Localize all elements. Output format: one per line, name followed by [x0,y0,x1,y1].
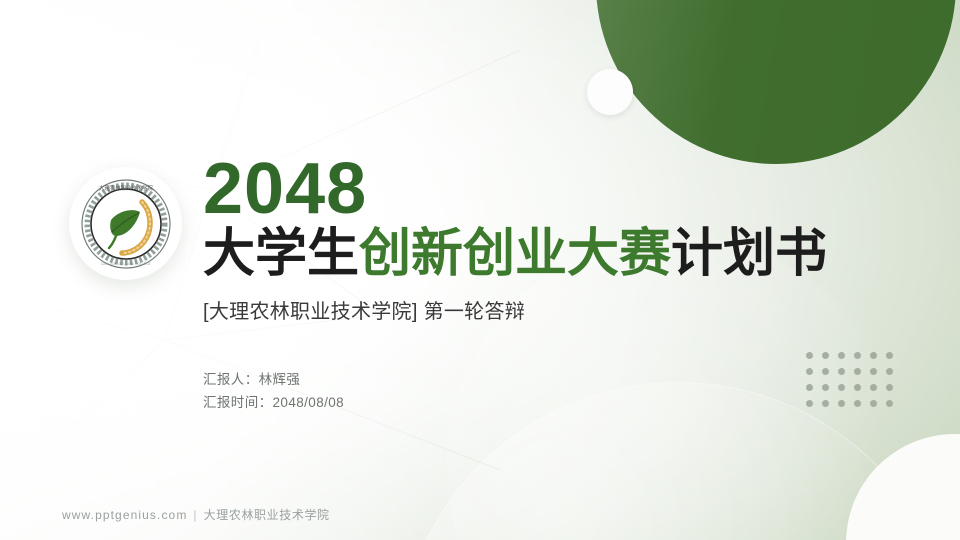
subtitle: [大理农林职业技术学院] 第一轮答辩 [203,295,843,324]
decorative-dot-grid [806,352,902,416]
title-block: 2048 大学生创新创业大赛计划书 [大理农林职业技术学院] 第一轮答辩 [203,155,843,324]
headline-highlight: 创新创业大赛 [359,225,671,283]
footer: www.pptgenius.com|大理农林职业技术学院 [62,506,330,523]
grid-dot [886,384,893,391]
grid-dot [806,400,813,407]
year-heading: 2048 [203,155,843,223]
headline-part-2: 计划书 [671,225,827,283]
grid-dot [870,384,877,391]
footer-organization: 大理农林职业技术学院 [204,508,330,522]
presentation-cover-slide: 大理农林职业技术学院 DALI AGRICULTURE COLLEGE 2048… [0,0,960,540]
presenter-name-line: 汇报人：林辉强 [203,368,344,391]
grid-dot [806,368,813,375]
grid-dot [806,384,813,391]
grid-dot [838,400,845,407]
grid-dot [870,352,877,359]
grid-dot [870,368,877,375]
footer-website[interactable]: www.pptgenius.com [62,508,187,522]
svg-text:DALI AGRICULTURE COLLEGE: DALI AGRICULTURE COLLEGE [101,262,151,266]
grid-dot [838,368,845,375]
presenter-meta: 汇报人：林辉强 汇报时间：2048/08/08 [203,368,344,414]
grid-dot [822,400,829,407]
grid-dot [822,384,829,391]
grid-dot [854,352,861,359]
headline-part-1: 大学生 [203,225,359,283]
footer-separator: | [193,508,197,522]
grid-dot [870,400,877,407]
grid-dot [854,400,861,407]
college-logo: 大理农林职业技术学院 DALI AGRICULTURE COLLEGE [69,167,182,280]
svg-text:大理农林职业技术学院: 大理农林职业技术学院 [99,184,154,192]
grid-dot [838,384,845,391]
grid-dot [886,352,893,359]
grid-dot [886,368,893,375]
grid-dot [822,352,829,359]
grid-dot [822,368,829,375]
grid-dot [854,384,861,391]
grid-dot [806,352,813,359]
grid-dot [886,400,893,407]
main-headline: 大学生创新创业大赛计划书 [203,227,843,281]
grid-dot [854,368,861,375]
college-emblem-icon: 大理农林职业技术学院 DALI AGRICULTURE COLLEGE [78,176,174,272]
grid-dot [838,352,845,359]
presentation-date-line: 汇报时间：2048/08/08 [203,391,344,414]
